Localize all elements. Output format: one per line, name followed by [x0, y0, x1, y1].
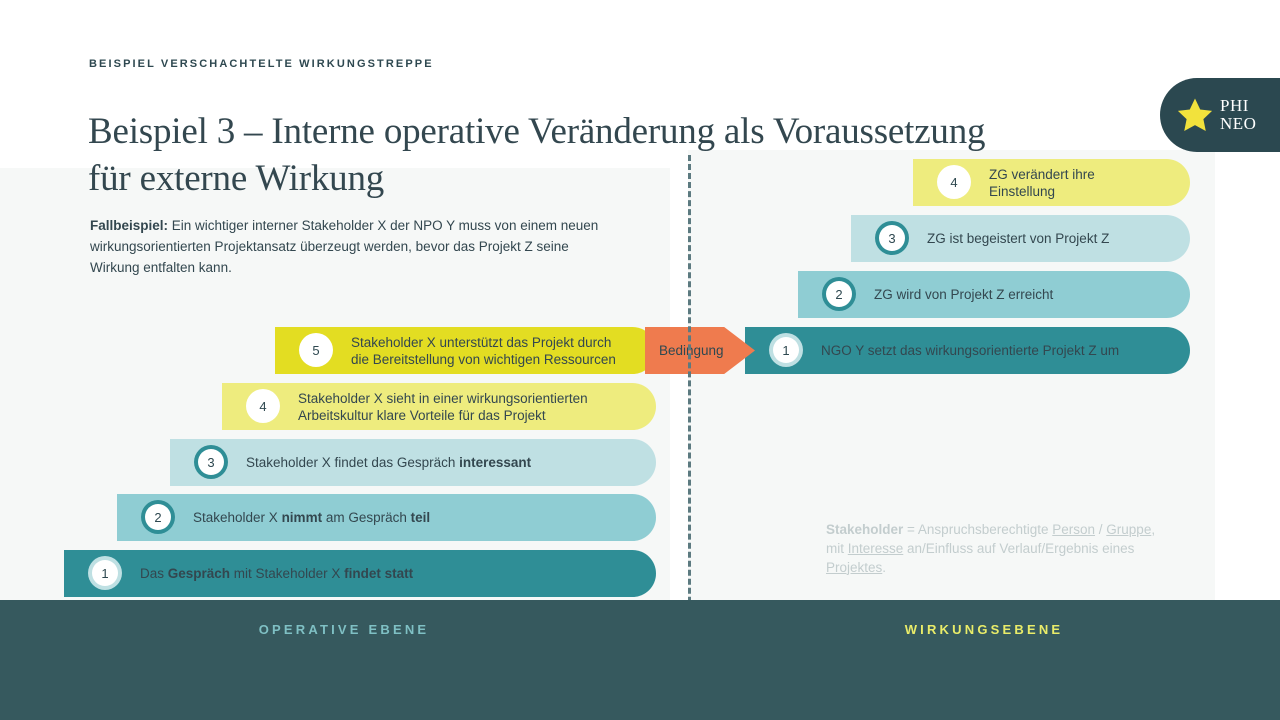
- step-number-badge: 4: [250, 393, 276, 419]
- phineo-wordmark-line2: NEO: [1220, 115, 1256, 133]
- step-bar-text: ZG ist begeistert von Projekt Z: [927, 230, 1109, 247]
- step-bar-text: Stakeholder X findet das Gespräch intere…: [246, 454, 531, 471]
- step-bar-wirkung-3: 3ZG ist begeistert von Projekt Z: [851, 215, 1190, 262]
- definition-link-interesse: Interesse: [848, 541, 904, 556]
- footer-label-operative: OPERATIVE EBENE: [0, 622, 688, 637]
- step-bar-operative-3: 3Stakeholder X findet das Gespräch inter…: [170, 439, 656, 486]
- step-number-badge: 2: [145, 504, 171, 530]
- step-number-badge: 2: [826, 281, 852, 307]
- step-number-badge: 3: [879, 225, 905, 251]
- bedingung-label: Bedingung: [645, 343, 724, 358]
- star-icon: [1176, 96, 1214, 134]
- footer-label-wirkung: WIRKUNGSEBENE: [688, 622, 1280, 637]
- definition-term: Stakeholder: [826, 522, 903, 537]
- step-bar-wirkung-1: 1NGO Y setzt das wirkungsorientierte Pro…: [745, 327, 1190, 374]
- case-example-label: Fallbeispiel:: [90, 218, 168, 233]
- step-bar-operative-5: 5Stakeholder X unterstützt das Projekt d…: [275, 327, 656, 374]
- step-bar-operative-2: 2Stakeholder X nimmt am Gespräch teil: [117, 494, 656, 541]
- step-bar-text: ZG wird von Projekt Z erreicht: [874, 286, 1053, 303]
- definition-sep1: /: [1095, 522, 1106, 537]
- phineo-logo: PHI NEO: [1160, 78, 1280, 152]
- stakeholder-definition: Stakeholder = Anspruchsberechtigte Perso…: [826, 520, 1166, 577]
- case-example-text: Fallbeispiel: Ein wichtiger interner Sta…: [90, 215, 605, 278]
- slide-canvas: BEISPIEL VERSCHACHTELTE WIRKUNGSTREPPE B…: [0, 0, 1280, 720]
- definition-link-projektes: Projektes: [826, 560, 882, 575]
- definition-part4: .: [882, 560, 886, 575]
- step-bar-operative-4: 4Stakeholder X sieht in einer wirkungsor…: [222, 383, 656, 430]
- step-bar-text: Das Gespräch mit Stakeholder X findet st…: [140, 565, 413, 582]
- step-bar-wirkung-2: 2ZG wird von Projekt Z erreicht: [798, 271, 1190, 318]
- step-bar-text: Stakeholder X nimmt am Gespräch teil: [193, 509, 430, 526]
- slide-eyebrow: BEISPIEL VERSCHACHTELTE WIRKUNGSTREPPE: [89, 58, 434, 70]
- step-bar-text: NGO Y setzt das wirkungsorientierte Proj…: [821, 342, 1119, 359]
- definition-link-person: Person: [1052, 522, 1095, 537]
- step-number-badge: 1: [92, 560, 118, 586]
- step-number-badge: 1: [773, 337, 799, 363]
- step-bar-operative-1: 1Das Gespräch mit Stakeholder X findet s…: [64, 550, 656, 597]
- page-title: Beispiel 3 – Interne operative Veränderu…: [88, 108, 1028, 202]
- step-bar-text: ZG verändert ihreEinstellung: [989, 166, 1095, 200]
- step-bar-wirkung-4: 4ZG verändert ihreEinstellung: [913, 159, 1190, 206]
- step-number-badge: 4: [941, 169, 967, 195]
- step-bar-text: Stakeholder X sieht in einer wirkungsori…: [298, 390, 588, 424]
- step-bar-text: Stakeholder X unterstützt das Projekt du…: [351, 334, 616, 368]
- step-number-badge: 5: [303, 337, 329, 363]
- definition-part1: = Anspruchsberechtigte: [903, 522, 1052, 537]
- step-number-badge: 3: [198, 449, 224, 475]
- definition-link-gruppe: Gruppe: [1106, 522, 1151, 537]
- definition-part3: an/Einfluss auf Verlauf/Ergebnis eines: [903, 541, 1134, 556]
- ebene-footer: [0, 600, 1280, 720]
- phineo-wordmark: PHI NEO: [1220, 97, 1256, 133]
- phineo-wordmark-line1: PHI: [1220, 97, 1256, 115]
